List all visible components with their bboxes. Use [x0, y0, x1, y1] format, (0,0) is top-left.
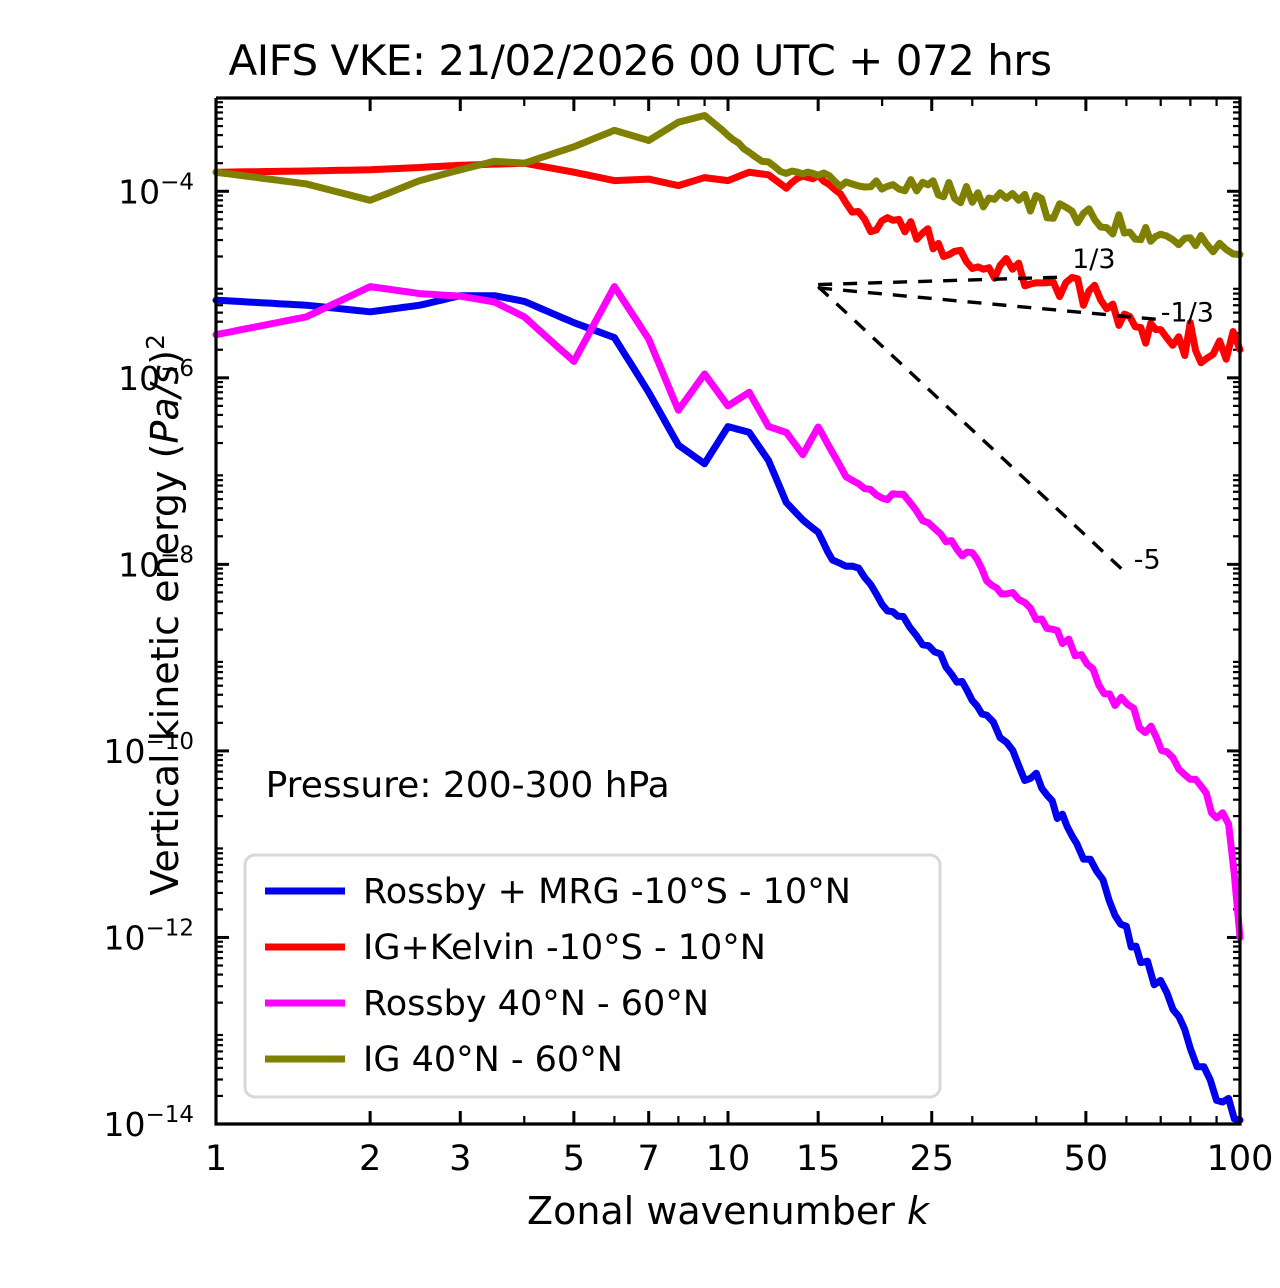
x-tick-label: 2 [359, 1139, 381, 1179]
x-tick-label: 1 [205, 1139, 227, 1179]
slope-label-minus-one-third: -1/3 [1161, 298, 1214, 329]
y-tick-label: 10−10 [103, 729, 194, 771]
slope-label-minus-five: -5 [1134, 545, 1161, 576]
slope-label-plus-one-third: 1/3 [1072, 244, 1115, 275]
legend-label-2[interactable]: Rossby 40°N - 60°N [363, 984, 709, 1024]
y-tick-label: 10−12 [103, 915, 194, 957]
x-tick-label: 3 [449, 1139, 471, 1179]
x-tick-label: 100 [1207, 1139, 1274, 1179]
figure-canvas: AIFS VKE: 21/02/2026 00 UTC + 072 hrs Ve… [0, 0, 1280, 1288]
x-tick-label: 15 [796, 1139, 841, 1179]
legend[interactable]: Rossby + MRG -10°S - 10°NIG+Kelvin -10°S… [245, 855, 940, 1097]
x-tick-label: 5 [563, 1139, 585, 1179]
ref-slope-minus-five [818, 287, 1126, 574]
x-tick-label: 7 [638, 1139, 660, 1179]
pressure-annotation: Pressure: 200-300 hPa [266, 765, 670, 806]
legend-label-3[interactable]: IG 40°N - 60°N [363, 1040, 623, 1080]
chart-svg: 10−410−610−810−1010−1210−14 123571015255… [0, 0, 1280, 1288]
x-tick-label: 10 [706, 1139, 751, 1179]
legend-label-1[interactable]: IG+Kelvin -10°S - 10°N [363, 928, 766, 968]
y-tick-label: 10−14 [103, 1102, 194, 1144]
legend-label-0[interactable]: Rossby + MRG -10°S - 10°N [363, 872, 851, 912]
reference-slope-lines [818, 277, 1161, 573]
series-ig-midlat [216, 116, 1240, 255]
y-tick-label: 10−6 [118, 356, 194, 398]
x-tick-label: 25 [909, 1139, 954, 1179]
y-tick-label: 10−4 [118, 169, 194, 211]
series-rossby-midlat [216, 287, 1240, 938]
y-tick-label: 10−8 [118, 542, 194, 584]
chart-annotations: Pressure: 200-300 hPa1/3-1/3-5 [266, 244, 1214, 806]
x-tick-label: 50 [1064, 1139, 1109, 1179]
